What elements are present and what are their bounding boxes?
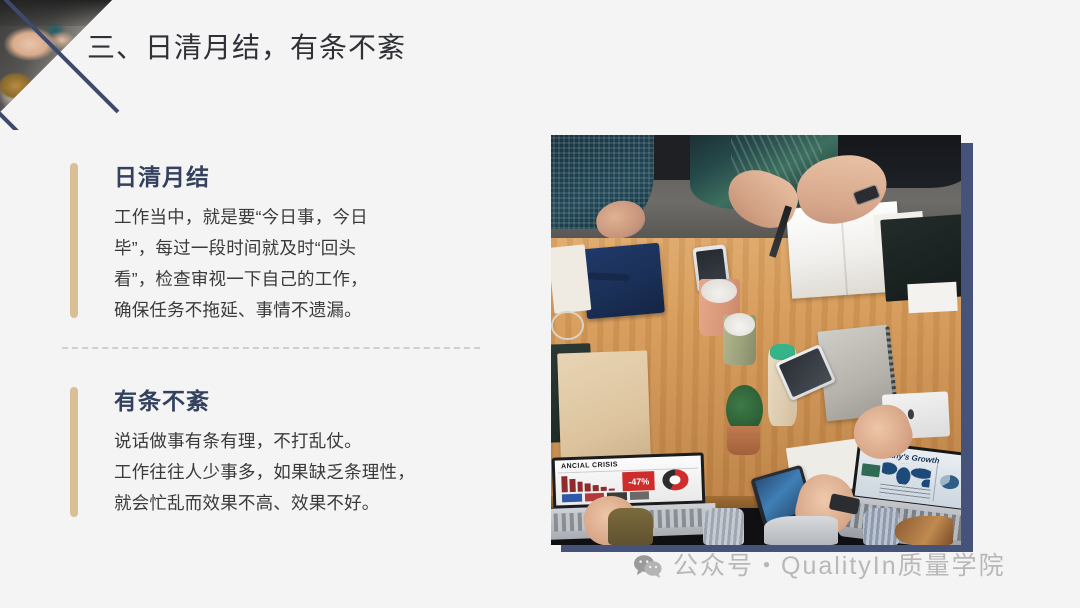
section-heading-2: 有条不紊 bbox=[114, 387, 415, 415]
content-block-2-body: 有条不紊 说话做事有条有理，不打乱仗。 工作往往人少事多，如果缺乏条理性， 就会… bbox=[114, 387, 415, 519]
wechat-icon bbox=[633, 554, 663, 578]
photo-person-leg-mid bbox=[703, 508, 744, 545]
laptop-right-green-block bbox=[862, 463, 880, 477]
laptop-left-screen-title: ANCIAL CRISIS bbox=[561, 461, 618, 470]
section-heading-1: 日清月结 bbox=[114, 163, 368, 191]
photo-office-desk: ANCIAL CRISIS -47% bbox=[551, 135, 961, 545]
photo-paper-left bbox=[551, 244, 591, 313]
accent-bar-1 bbox=[70, 163, 78, 318]
photo-person-leg-left bbox=[608, 508, 653, 545]
laptop-right-pie-chart bbox=[939, 474, 960, 490]
section-paragraph-2: 说话做事有条有理，不打乱仗。 工作往往人少事多，如果缺乏条理性， 就会忙乱而效果… bbox=[114, 426, 415, 519]
photo-tan-folder bbox=[557, 351, 651, 461]
photo-person-hair bbox=[895, 516, 952, 545]
photo-business-card bbox=[907, 281, 958, 312]
content-block-1-body: 日清月结 工作当中，就是要“今日事，今日 毕”，每过一段时间就及时“回头 看”，… bbox=[114, 163, 368, 326]
laptop-left-bar-chart bbox=[561, 473, 614, 493]
content-block-1: 日清月结 工作当中，就是要“今日事，今日 毕”，每过一段时间就及时“回头 看”，… bbox=[70, 163, 368, 326]
watermark: 公众号・QualityIn质量学院 bbox=[633, 551, 1006, 581]
photo-scene: ANCIAL CRISIS -47% bbox=[551, 135, 961, 545]
laptop-right-separator bbox=[933, 464, 939, 501]
section-divider bbox=[62, 347, 480, 349]
section-paragraph-1: 工作当中，就是要“今日事，今日 毕”，每过一段时间就及时“回头 看”，检查审视一… bbox=[114, 202, 368, 326]
laptop-left-metric-badge: -47% bbox=[622, 471, 655, 491]
accent-bar-2 bbox=[70, 387, 78, 517]
photo-laptop-left-screen: ANCIAL CRISIS -47% bbox=[552, 452, 705, 508]
content-block-2: 有条不紊 说话做事有条有理，不打乱仗。 工作往往人少事多，如果缺乏条理性， 就会… bbox=[70, 387, 415, 519]
photo-laptop-left-display: ANCIAL CRISIS -47% bbox=[555, 455, 702, 505]
photo-navy-notebook bbox=[581, 242, 665, 318]
laptop-left-donut-chart bbox=[661, 469, 688, 491]
photo-coffee-cup-small bbox=[723, 315, 756, 364]
laptop-right-world-map bbox=[881, 460, 932, 487]
photo-person-leg-right bbox=[863, 508, 900, 545]
watermark-text: 公众号・QualityIn质量学院 bbox=[673, 551, 1006, 581]
photo-person-leg-center bbox=[764, 516, 838, 545]
page-title: 三、日清月结，有条不紊 bbox=[87, 28, 406, 68]
photo-ring-object bbox=[551, 311, 584, 340]
slide-canvas: 三、日清月结，有条不紊 日清月结 工作当中，就是要“今日事，今日 毕”，每过一段… bbox=[0, 0, 1080, 608]
photo-cactus-pot bbox=[727, 426, 760, 455]
